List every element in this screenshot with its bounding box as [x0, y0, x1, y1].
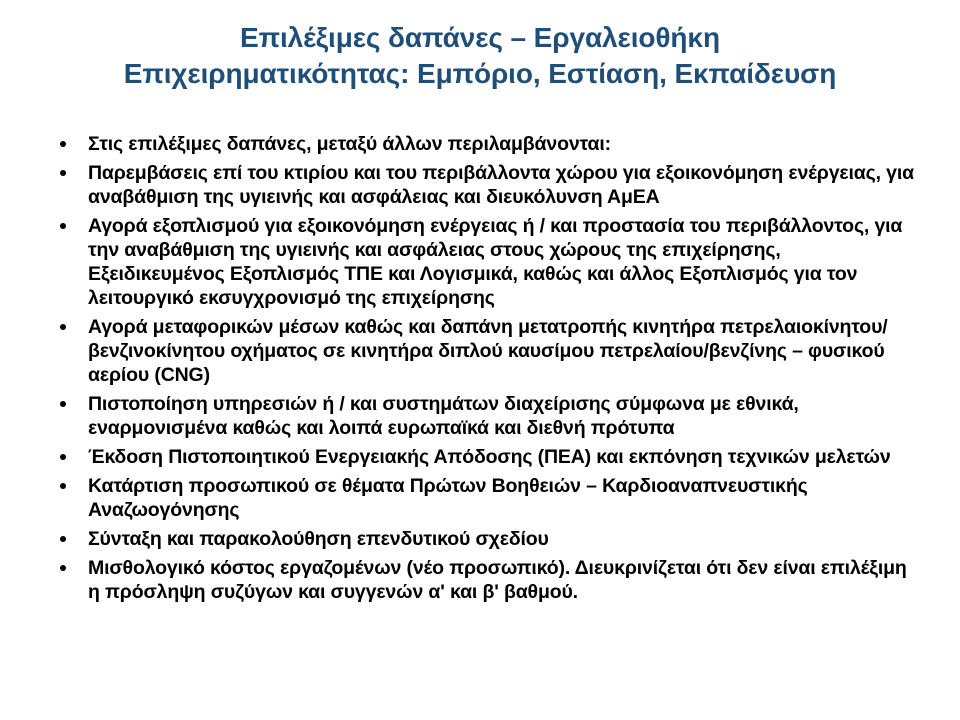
- bullet-point-icon: [60, 223, 66, 229]
- list-item: Αγορά εξοπλισμού για εξοικονόμηση ενέργε…: [48, 214, 916, 310]
- list-item: Στις επιλέξιμες δαπάνες, μεταξύ άλλων πε…: [48, 132, 916, 156]
- list-item-text: Κατάρτιση προσωπικού σε θέματα Πρώτων Βο…: [88, 474, 916, 522]
- list-item-text: Παρεμβάσεις επί του κτιρίου και του περι…: [88, 161, 916, 209]
- list-item-text: Αγορά εξοπλισμού για εξοικονόμηση ενέργε…: [88, 214, 916, 310]
- bullet-point-icon: [60, 401, 66, 407]
- list-item-text: Έκδοση Πιστοποιητικού Ενεργειακής Απόδοσ…: [88, 445, 916, 469]
- bullet-point-icon: [60, 483, 66, 489]
- list-item-text: Πιστοποίηση υπηρεσιών ή / και συστημάτων…: [88, 392, 916, 440]
- list-item: Σύνταξη και παρακολούθηση επενδυτικού σχ…: [48, 527, 916, 551]
- list-item: Παρεμβάσεις επί του κτιρίου και του περι…: [48, 161, 916, 209]
- bullet-point-icon: [60, 454, 66, 460]
- list-item-text: Αγορά μεταφορικών μέσων καθώς και δαπάνη…: [88, 315, 916, 387]
- list-item-text: Σύνταξη και παρακολούθηση επενδυτικού σχ…: [88, 527, 916, 551]
- list-item: Αγορά μεταφορικών μέσων καθώς και δαπάνη…: [48, 315, 916, 387]
- bullet-point-icon: [60, 141, 66, 147]
- slide-title-line-1: Επιλέξιμες δαπάνες – Εργαλειοθήκη: [40, 20, 920, 56]
- bullet-point-icon: [60, 565, 66, 571]
- slide-title-line-2: Επιχειρηματικότητας: Εμπόριο, Εστίαση, Ε…: [40, 56, 920, 92]
- bullet-point-icon: [60, 324, 66, 330]
- slide-title: Επιλέξιμες δαπάνες – Εργαλειοθήκη Επιχει…: [40, 20, 920, 93]
- list-item: Πιστοποίηση υπηρεσιών ή / και συστημάτων…: [48, 392, 916, 440]
- list-item-text: Στις επιλέξιμες δαπάνες, μεταξύ άλλων πε…: [88, 132, 916, 156]
- list-item: Μισθολογικό κόστος εργαζομένων (νέο προσ…: [48, 556, 916, 604]
- bullet-point-icon: [60, 170, 66, 176]
- presentation-slide: Επιλέξιμες δαπάνες – Εργαλειοθήκη Επιχει…: [0, 0, 960, 720]
- list-item: Κατάρτιση προσωπικού σε θέματα Πρώτων Βο…: [48, 474, 916, 522]
- list-item-text: Μισθολογικό κόστος εργαζομένων (νέο προσ…: [88, 556, 916, 604]
- bullet-point-icon: [60, 536, 66, 542]
- list-item: Έκδοση Πιστοποιητικού Ενεργειακής Απόδοσ…: [48, 445, 916, 469]
- eligible-expenses-list: Στις επιλέξιμες δαπάνες, μεταξύ άλλων πε…: [48, 132, 916, 604]
